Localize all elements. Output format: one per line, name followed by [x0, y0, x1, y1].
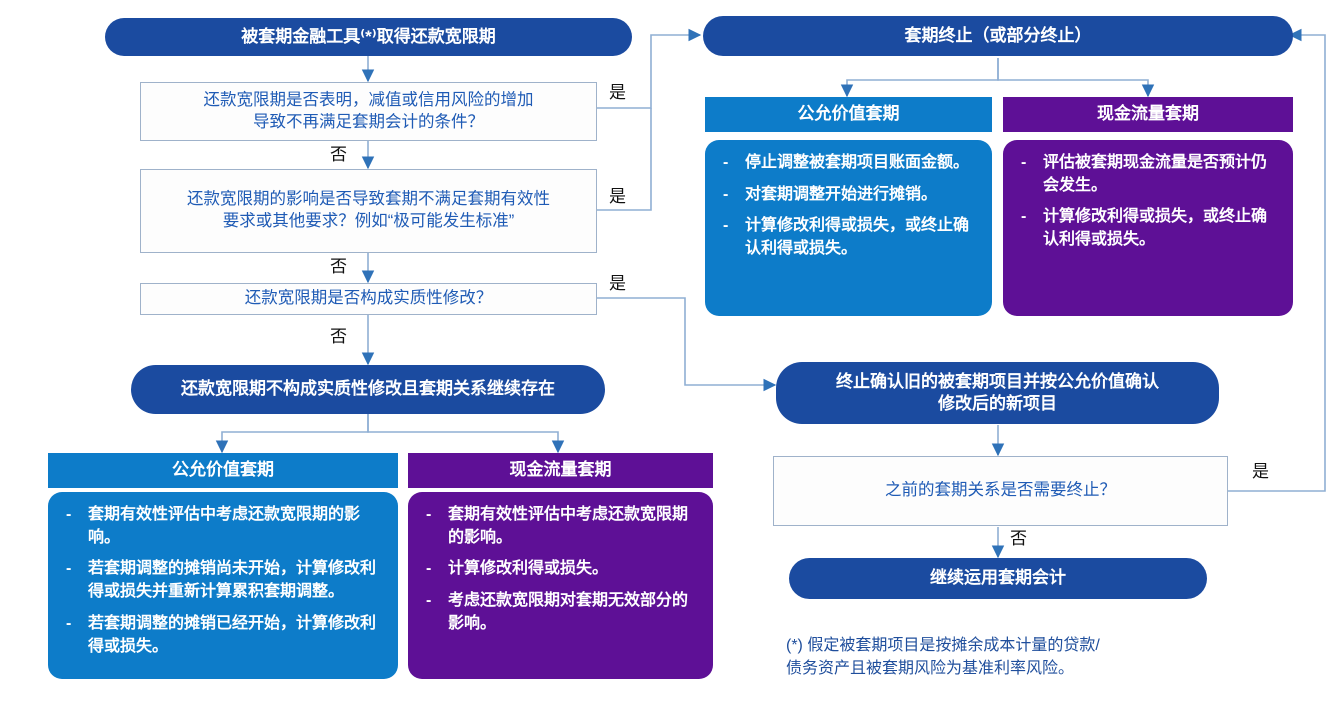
list-item-text: 套期有效性评估中考虑还款宽限期的影响。	[88, 506, 360, 546]
bullet-dash-icon: -	[426, 590, 431, 613]
edge-label-q1-yes: 是	[609, 84, 626, 101]
panel-left-fv-list: -套期有效性评估中考虑还款宽限期的影响。 -若套期调整的摊销尚未开始，计算修改利…	[58, 504, 384, 658]
node-hedge-termination[interactable]: 套期终止（或部分终止）	[703, 16, 1293, 56]
header-left-cash-flow-hedge[interactable]: 现金流量套期	[408, 453, 713, 488]
node-question-3[interactable]: 还款宽限期是否构成实质性修改？	[140, 283, 597, 315]
edge-label-q3-no: 否	[330, 328, 347, 345]
bullet-dash-icon: -	[66, 613, 71, 636]
header-left-cash-flow-hedge-label: 现金流量套期	[510, 459, 612, 481]
header-left-fair-value-hedge[interactable]: 公允价值套期	[48, 453, 398, 488]
panel-right-cash-flow-hedge: -评估被套期现金流量是否预计仍会发生。 -计算修改利得或损失，或终止确认利得或损…	[1003, 140, 1293, 316]
node-question-1-label: 还款宽限期是否表明，减值或信用风险的增加 导致不再满足套期会计的条件？	[204, 90, 534, 134]
edge-outcome-to-cf	[368, 414, 558, 452]
node-question-4[interactable]: 之前的套期关系是否需要终止？	[773, 456, 1228, 526]
panel-right-cf-list: -评估被套期现金流量是否预计仍会发生。 -计算修改利得或损失，或终止确认利得或损…	[1013, 152, 1279, 252]
node-continue-hedge-accounting[interactable]: 继续运用套期会计	[789, 558, 1207, 599]
list-item-text: 评估被套期现金流量是否预计仍会发生。	[1043, 154, 1267, 194]
flowchart-canvas: 被套期金融工具⁽*⁾取得还款宽限期 还款宽限期是否表明，减值或信用风险的增加 导…	[0, 0, 1337, 702]
list-item-text: 计算修改利得或损失，或终止确认利得或损失。	[745, 217, 969, 257]
list-item: -考虑还款宽限期对套期无效部分的影响。	[418, 590, 699, 635]
bullet-dash-icon: -	[426, 558, 431, 581]
edge-outcome-to-fv	[222, 414, 368, 452]
node-derecognize-old-item-label: 终止确认旧的被套期项目并按公允价值确认 修改后的新项目	[836, 371, 1159, 416]
edge-label-q2-no: 否	[330, 258, 347, 275]
node-question-2[interactable]: 还款宽限期的影响是否导致套期不满足套期有效性 要求或其他要求？例如“极可能发生标…	[140, 169, 597, 253]
node-continue-hedge-accounting-label: 继续运用套期会计	[930, 567, 1066, 589]
header-right-cash-flow-hedge-label: 现金流量套期	[1097, 103, 1199, 125]
list-item: -评估被套期现金流量是否预计仍会发生。	[1013, 152, 1279, 197]
edge-label-q4-yes: 是	[1252, 463, 1269, 480]
bullet-dash-icon: -	[66, 504, 71, 527]
edge-label-q3-yes: 是	[609, 275, 626, 292]
list-item: -计算修改利得或损失，或终止确认利得或损失。	[1013, 206, 1279, 251]
edge-terminate-to-cf	[998, 58, 1148, 96]
list-item: -若套期调整的摊销已经开始，计算修改利得或损失。	[58, 613, 384, 658]
list-item-text: 若套期调整的摊销已经开始，计算修改利得或损失。	[88, 615, 376, 655]
list-item: -计算修改利得或损失，或终止确认利得或损失。	[715, 215, 978, 260]
list-item: -若套期调整的摊销尚未开始，计算修改利得或损失并重新计算累积套期调整。	[58, 558, 384, 603]
list-item-text: 停止调整被套期项目账面金额。	[745, 154, 969, 171]
list-item: -套期有效性评估中考虑还款宽限期的影响。	[418, 504, 699, 549]
list-item-text: 对套期调整开始进行摊销。	[745, 186, 937, 203]
node-outcome-label: 还款宽限期不构成实质性修改且套期关系继续存在	[181, 378, 555, 400]
list-item-text: 计算修改利得或损失。	[448, 560, 608, 577]
node-question-2-label: 还款宽限期的影响是否导致套期不满足套期有效性 要求或其他要求？例如“极可能发生标…	[187, 189, 550, 233]
panel-left-cf-list: -套期有效性评估中考虑还款宽限期的影响。 -计算修改利得或损失。 -考虑还款宽限…	[418, 504, 699, 636]
panel-right-fv-list: -停止调整被套期项目账面金额。 -对套期调整开始进行摊销。 -计算修改利得或损失…	[715, 152, 978, 261]
node-start-label: 被套期金融工具⁽*⁾取得还款宽限期	[241, 26, 495, 48]
bullet-dash-icon: -	[723, 184, 728, 207]
edge-label-q4-no: 否	[1010, 530, 1027, 547]
list-item: -对套期调整开始进行摊销。	[715, 184, 978, 207]
edge-label-q1-no: 否	[330, 146, 347, 163]
node-question-1[interactable]: 还款宽限期是否表明，减值或信用风险的增加 导致不再满足套期会计的条件？	[140, 82, 597, 141]
edge-label-q2-yes: 是	[609, 188, 626, 205]
list-item: -停止调整被套期项目账面金额。	[715, 152, 978, 175]
panel-right-fair-value-hedge: -停止调整被套期项目账面金额。 -对套期调整开始进行摊销。 -计算修改利得或损失…	[705, 140, 992, 316]
list-item: -计算修改利得或损失。	[418, 558, 699, 581]
list-item-text: 若套期调整的摊销尚未开始，计算修改利得或损失并重新计算累积套期调整。	[88, 560, 376, 600]
bullet-dash-icon: -	[426, 504, 431, 527]
header-left-fair-value-hedge-label: 公允价值套期	[172, 459, 274, 481]
node-outcome-no-substantial-modification[interactable]: 还款宽限期不构成实质性修改且套期关系继续存在	[131, 365, 605, 414]
header-right-fair-value-hedge-label: 公允价值套期	[798, 103, 900, 125]
node-start[interactable]: 被套期金融工具⁽*⁾取得还款宽限期	[105, 18, 632, 56]
list-item-text: 考虑还款宽限期对套期无效部分的影响。	[448, 592, 688, 632]
list-item-text: 套期有效性评估中考虑还款宽限期的影响。	[448, 506, 688, 546]
panel-left-fair-value-hedge: -套期有效性评估中考虑还款宽限期的影响。 -若套期调整的摊销尚未开始，计算修改利…	[48, 492, 398, 679]
node-derecognize-old-item[interactable]: 终止确认旧的被套期项目并按公允价值确认 修改后的新项目	[776, 362, 1219, 424]
node-hedge-termination-label: 套期终止（或部分终止）	[905, 25, 1092, 47]
list-item: -套期有效性评估中考虑还款宽限期的影响。	[58, 504, 384, 549]
bullet-dash-icon: -	[723, 215, 728, 238]
node-question-3-label: 还款宽限期是否构成实质性修改？	[245, 288, 493, 310]
bullet-dash-icon: -	[1021, 152, 1026, 175]
panel-left-cash-flow-hedge: -套期有效性评估中考虑还款宽限期的影响。 -计算修改利得或损失。 -考虑还款宽限…	[408, 492, 713, 679]
bullet-dash-icon: -	[1021, 206, 1026, 229]
edge-terminate-to-fv	[847, 58, 998, 96]
header-right-fair-value-hedge[interactable]: 公允价值套期	[705, 97, 992, 132]
footnote: (*) 假定被套期项目是按摊余成本计量的贷款/ 债务资产且被套期风险为基准利率风…	[786, 634, 1206, 680]
bullet-dash-icon: -	[723, 152, 728, 175]
header-right-cash-flow-hedge[interactable]: 现金流量套期	[1003, 97, 1293, 132]
bullet-dash-icon: -	[66, 558, 71, 581]
list-item-text: 计算修改利得或损失，或终止确认利得或损失。	[1043, 208, 1267, 248]
node-question-4-label: 之前的套期关系是否需要终止？	[885, 480, 1116, 502]
